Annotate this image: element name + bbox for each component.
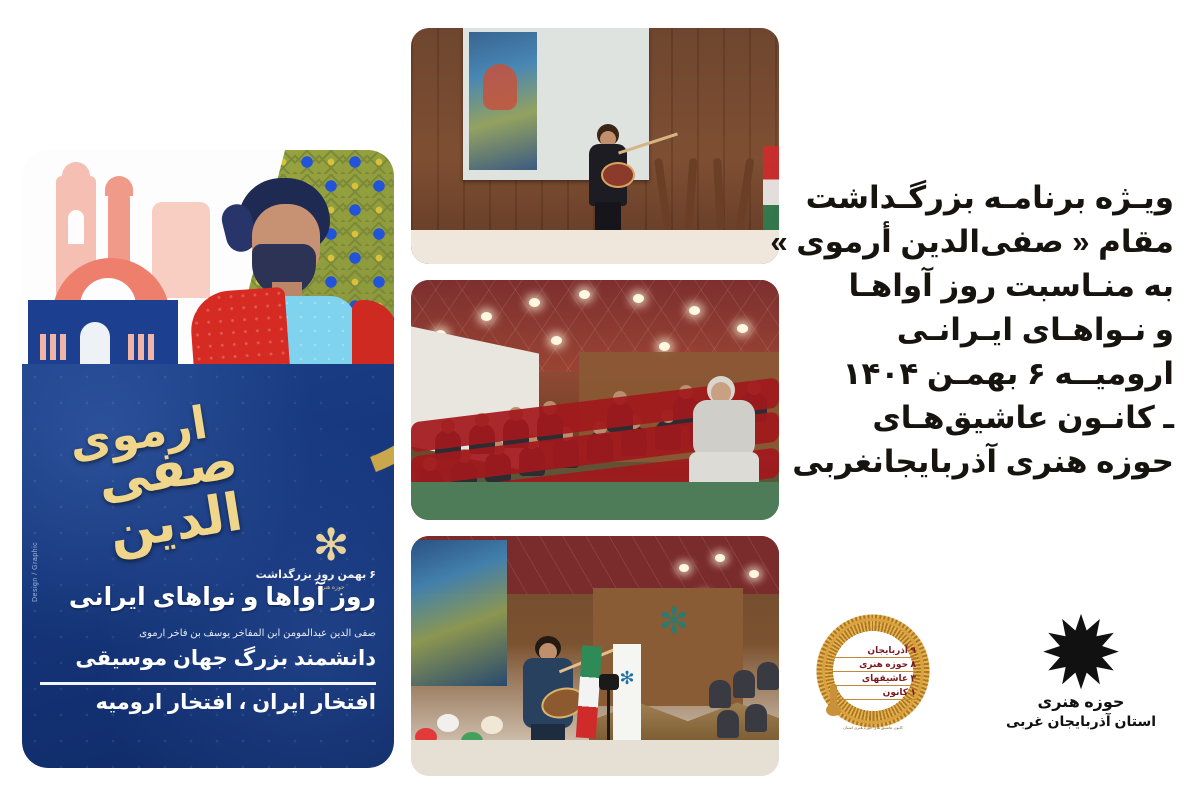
howzeh-logo-script: حوزه هنری استان آذربایجان غربی [986,692,1176,730]
star-glyph: ✻ [313,521,350,570]
audience-person [709,680,731,708]
projection-screen [411,540,507,686]
medallion-row-4: ۱ کانون [832,687,916,700]
flower [437,714,459,732]
green-floor [411,482,779,520]
side-audience [707,660,779,742]
event-poster: ارموی صفی الدین ✻ حوزه هنری ۶ بهمن روز ب… [22,150,394,768]
stage-floor [411,230,779,264]
headline-line-2: مقام « صفی‌الدین أرموی » [812,220,1174,264]
medallion-row-1: ۹ آذربایجان [832,645,916,658]
hall-scene: ✻ ✻ [411,536,779,776]
audience-person [733,670,755,698]
instrument-stand [713,158,725,230]
attendee-sweater [693,400,755,458]
organization-flag-emblem-icon: ✻ [618,668,636,708]
instrument-stand [654,158,672,230]
photo-audience-in-hall [411,280,779,520]
poster-full-name: صفی الدین عبدالمومن ابن المفاخر یوسف بن … [40,628,376,639]
projected-slide [469,32,537,170]
stage-scene [411,28,779,264]
ceiling-light-icon [689,306,700,315]
audience-person [717,710,739,738]
iran-flag [763,146,779,230]
medallion-row-3: ۳ عاشیقهای [832,673,916,686]
organization-flag: ✻ [613,644,641,740]
headline-line-4: و نـواهـای ایـرانـی [812,308,1174,352]
ashiq-center-medallion-logo: ۹ آذربایجان ۸ حوزه هنری ۳ عاشیقهای ۱ کان… [814,610,932,732]
headline-line-1: ویـژه برنامـه بزرگـداشت [812,176,1174,220]
ceiling-light-icon [633,294,644,303]
ceiling-light-icon [529,298,540,307]
ceiling-light-icon [659,342,670,351]
ceiling-light-icon [579,290,590,299]
auditorium-scene [411,280,779,520]
instrument-stand [735,158,754,230]
logo-strip: ۹ آذربایجان ۸ حوزه هنری ۳ عاشیقهای ۱ کان… [810,596,1176,764]
headline-line-6: ـ کانـون عاشیق‌هـای [812,396,1174,440]
howzeh-honari-logo: ✹ حوزه هنری استان آذربایجان غربی [986,596,1176,758]
instrument-stand [684,158,697,230]
howzeh-title: حوزه هنری [986,692,1176,712]
building-stripe [40,334,46,360]
poster-pride-line: افتخار ایران ، افتخار ارومیه [40,690,376,715]
poster-date-line: ۶ بهمن روز بزرگداشت [40,568,376,581]
graphic-canvas: ارموی صفی الدین ✻ حوزه هنری ۶ بهمن روز ب… [0,0,1200,800]
poster-title: روز آواها و نواهای ایرانی [40,582,376,612]
wall-star-emblem-icon: ✻ [653,602,695,640]
audience-person [745,704,767,732]
medallion-footer-text: کانون عاشیق های حوزه هنری استان [814,725,932,730]
hall-floor [411,740,779,776]
building-stripe [50,334,56,360]
headline-line-3: به منـاسبت روز آواهـا [812,264,1174,308]
howzeh-subtitle: استان آذربایجان غربی [986,713,1176,730]
audience-person [757,662,779,690]
foreground-attendee [687,376,761,498]
ceiling-light-icon [749,570,759,578]
headline-text: ویـژه برنامـه بزرگـداشت مقام « صفی‌الدین… [812,176,1174,484]
poster-divider [40,682,376,685]
photo-musician-on-stage [411,28,779,264]
medallion-text-block: ۹ آذربایجان ۸ حوزه هنری ۳ عاشیقهای ۱ کان… [832,632,916,712]
medallion-row-2: ۸ حوزه هنری [832,659,916,672]
building-stripe [60,334,66,360]
ceiling-light-icon [737,324,748,333]
flower [481,716,503,734]
poster-star-emblem-icon: ✻ حوزه هنری [302,522,360,572]
headline-line-7: حوزه هنری آذربایجانغربی [812,440,1174,484]
instrument-stands [653,138,757,230]
ceiling-light-icon [679,564,689,572]
performer-instrument-icon [601,162,635,188]
headline-line-5: ارومیــه ۶ بهمـن ۱۴۰۴ [812,352,1174,396]
poster-designer-credit: Design / Graphic [32,542,39,602]
poster-scientist-line: دانشمند بزرگ جهان موسیقی [40,646,376,671]
ceiling-light-icon [551,336,562,345]
ceiling-light-icon [481,312,492,321]
ceiling-light-icon [715,554,725,562]
photo-musician-with-flags: ✻ ✻ [411,536,779,776]
